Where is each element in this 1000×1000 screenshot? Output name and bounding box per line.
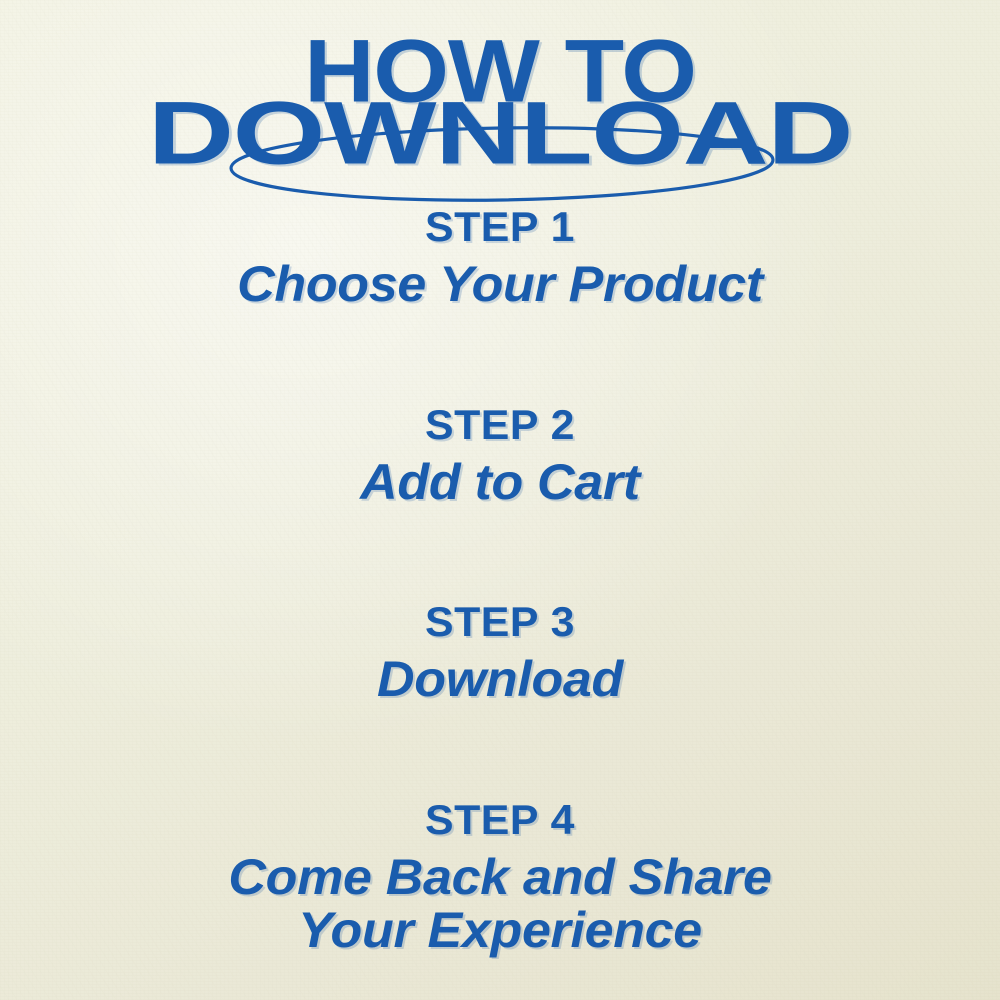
- step-3-title: Download: [0, 653, 1000, 707]
- step-item-3: STEP 3 Download: [0, 601, 1000, 707]
- step-item-1: STEP 1 Choose Your Product: [0, 206, 1000, 312]
- step-3-label: STEP 3: [0, 601, 1000, 643]
- steps-list: STEP 1 Choose Your Product STEP 2 Add to…: [0, 206, 1000, 958]
- step-1-title: Choose Your Product: [0, 258, 1000, 312]
- step-4-label: STEP 4: [0, 799, 1000, 841]
- step-4-title-line-1: Come Back and Share: [0, 851, 1000, 905]
- page-title-line-2: DOWNLOAD: [0, 88, 1000, 177]
- step-item-4: STEP 4 Come Back and Share Your Experien…: [0, 799, 1000, 958]
- step-2-label: STEP 2: [0, 404, 1000, 446]
- step-4-title: Come Back and Share Your Experience: [0, 851, 1000, 958]
- step-4-title-line-2: Your Experience: [0, 904, 1000, 958]
- poster-canvas: HOW TO DOWNLOAD STEP 1 Choose Your Produ…: [0, 0, 1000, 1000]
- step-2-title: Add to Cart: [0, 456, 1000, 510]
- title-block: HOW TO DOWNLOAD: [0, 26, 1000, 201]
- step-item-2: STEP 2 Add to Cart: [0, 404, 1000, 510]
- step-1-label: STEP 1: [0, 206, 1000, 248]
